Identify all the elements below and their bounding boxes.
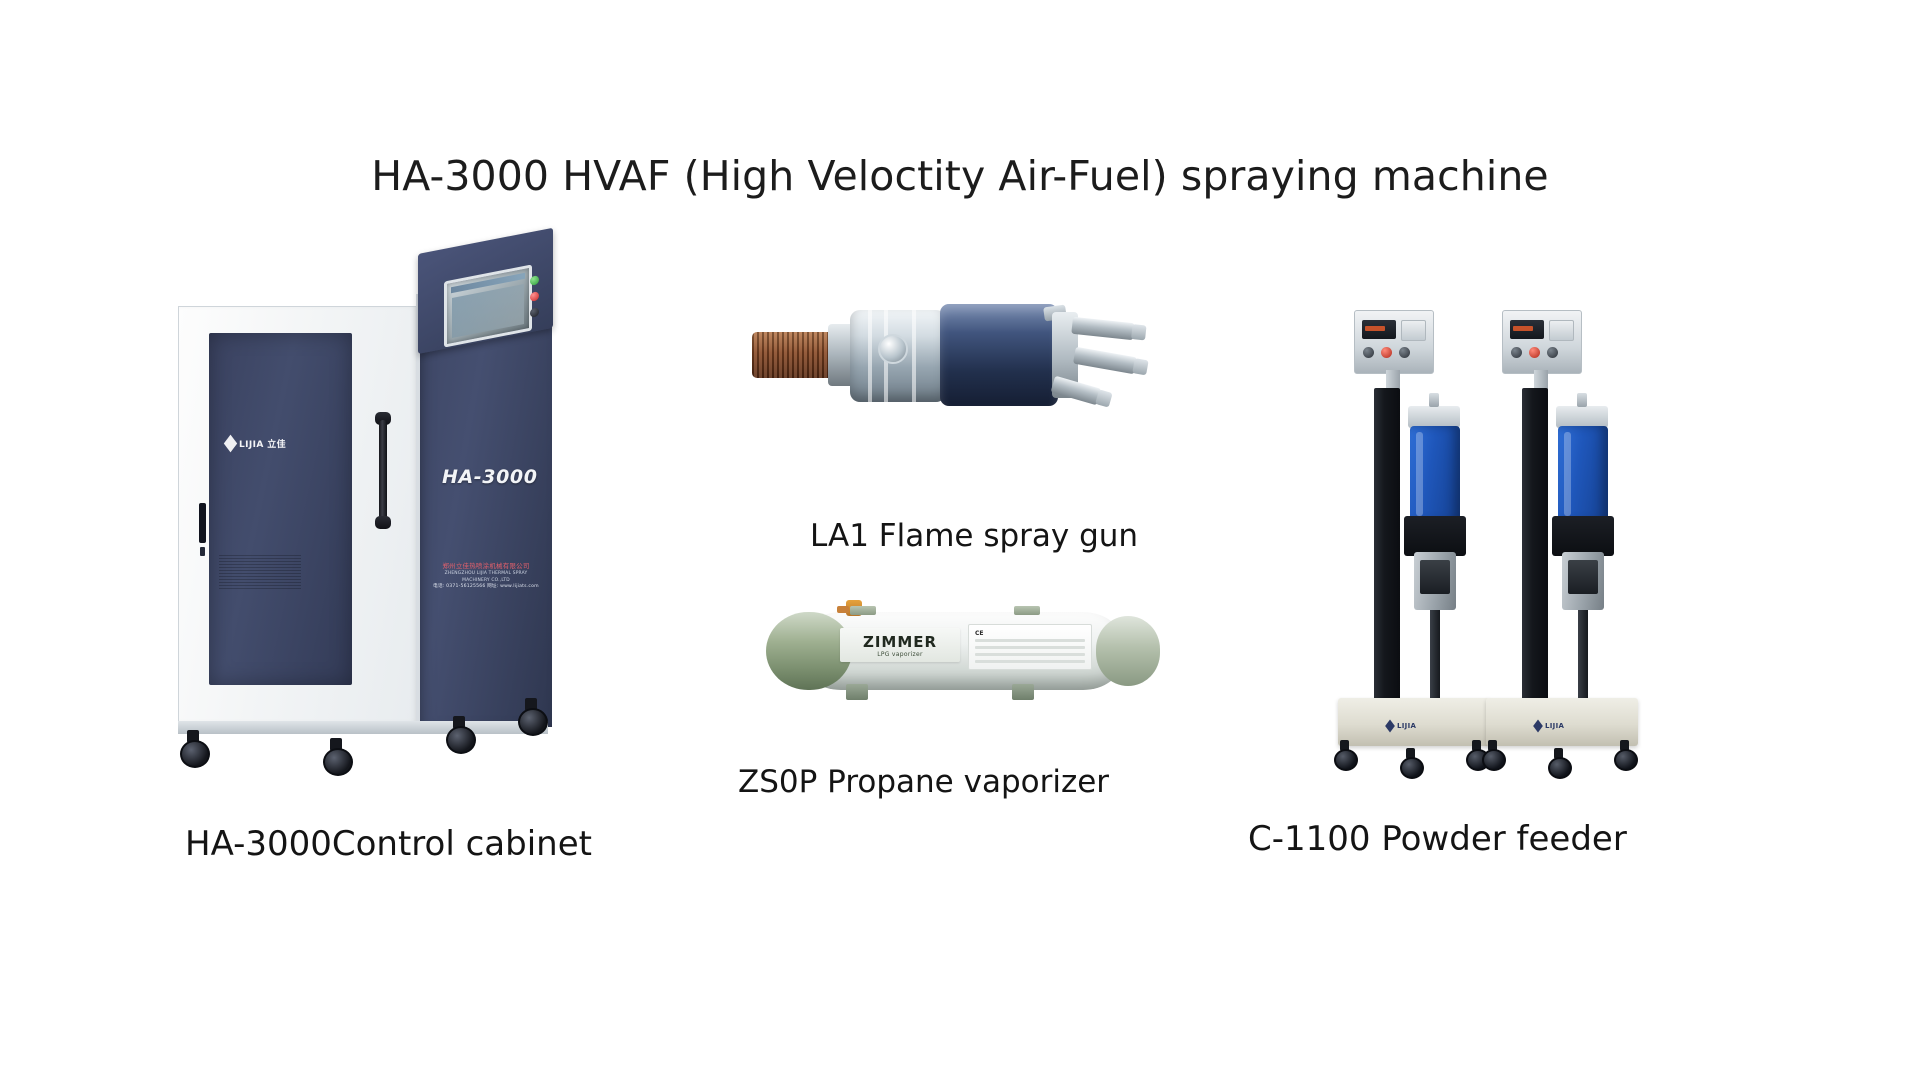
cabinet-company-label: 郑州立佳热喷涂机械有限公司 ZHENGZHOU LIJIA THERMAL SP… xyxy=(430,562,542,591)
caption-powder-feeder: C-1100 Powder feeder xyxy=(1248,819,1627,859)
caption-spray-gun: LA1 Flame spray gun xyxy=(810,518,1138,554)
vaporizer-brand-label: ZIMMER LPG vaporizer xyxy=(840,628,960,662)
cabinet-caster xyxy=(446,716,472,750)
cabinet-door-handle xyxy=(375,412,391,529)
cabinet-body: LIJIA 立佳 xyxy=(178,306,418,723)
feeder-hopper-collar xyxy=(1552,516,1614,556)
feeder-hopper-cap xyxy=(1408,406,1460,428)
feeder-power-button-icon xyxy=(1529,347,1540,358)
powder-feeder-unit: LIJIA xyxy=(1330,300,1500,780)
feeder-knob-icon xyxy=(1399,347,1410,358)
feeder-hopper-collar xyxy=(1404,516,1466,556)
feeder-secondary-display xyxy=(1401,320,1426,341)
feeder-hopper-cap xyxy=(1556,406,1608,428)
feeder-digital-display xyxy=(1362,320,1396,339)
spray-gun-illustration xyxy=(752,286,1172,446)
feeder-knob-icon xyxy=(1511,347,1522,358)
feeder-digital-display xyxy=(1510,320,1544,339)
vaporizer-foot xyxy=(1012,684,1034,700)
lijia-diamond-icon xyxy=(1385,720,1395,733)
lijia-diamond-icon xyxy=(224,435,237,453)
feeder-caster xyxy=(1334,740,1354,767)
company-label-en: ZHENGZHOU LIJIA THERMAL SPRAY MACHINERY … xyxy=(430,571,542,584)
cabinet-model-text: HA-3000 xyxy=(442,466,538,488)
vaporizer-right-endcap xyxy=(1096,616,1160,686)
powder-feeder-unit: LIJIA xyxy=(1478,300,1648,780)
cabinet-door xyxy=(209,333,352,685)
cabinet-vent-grille xyxy=(219,555,301,591)
cabinet-brand-logo: LIJIA 立佳 xyxy=(225,437,286,450)
feeder-control-head xyxy=(1502,310,1582,374)
vaporizer-brand-subtext: LPG vaporizer xyxy=(877,651,923,658)
feeder-caster xyxy=(1400,748,1420,775)
feeder-knob-icon xyxy=(1363,347,1374,358)
cabinet-lock-icon xyxy=(199,503,206,543)
cabinet-caster xyxy=(180,730,206,764)
feeder-brand-logo: LIJIA xyxy=(1386,722,1416,730)
company-label-contact: 电话: 0371-56125566 网址: www.lijiats.com xyxy=(430,584,542,591)
feeder-powder-hopper xyxy=(1410,426,1460,522)
feeder-dispenser-unit xyxy=(1562,552,1604,610)
gun-hose-fitting xyxy=(1071,317,1134,340)
feeder-power-button-icon xyxy=(1381,347,1392,358)
gun-navy-body xyxy=(940,304,1058,406)
caption-control-cabinet: HA-3000Control cabinet xyxy=(185,824,592,864)
handle-mount-bottom xyxy=(375,516,391,529)
feeder-brand-logo: LIJIA xyxy=(1534,722,1564,730)
control-cabinet-illustration: LIJIA 立佳 HA-3000 郑州立佳热喷涂机械有限公司 ZHENGZHOU… xyxy=(178,306,593,781)
gun-copper-barrel xyxy=(752,332,834,378)
propane-vaporizer-illustration: ZIMMER LPG vaporizer CE xyxy=(762,598,1162,718)
feeder-column-post xyxy=(1374,388,1400,718)
cabinet-base-plate xyxy=(178,721,548,734)
gun-hose-fitting xyxy=(1073,347,1137,375)
feeder-base-platform: LIJIA xyxy=(1486,698,1638,746)
screen-content xyxy=(452,284,524,338)
feeder-caster xyxy=(1482,740,1502,767)
feeder-control-knobs xyxy=(1511,347,1558,358)
lijia-diamond-icon xyxy=(1533,720,1543,733)
ce-mark-icon: CE xyxy=(975,630,984,637)
feeder-control-head xyxy=(1354,310,1434,374)
feeder-secondary-display xyxy=(1549,320,1574,341)
vaporizer-bracket xyxy=(850,606,876,615)
feeder-control-knobs xyxy=(1363,347,1410,358)
caption-propane-vaporizer: ZS0P Propane vaporizer xyxy=(738,764,1109,800)
company-label-cn: 郑州立佳热喷涂机械有限公司 xyxy=(430,562,542,571)
control-panel-buttons xyxy=(530,275,539,325)
feeder-caster xyxy=(1614,740,1634,767)
stop-button-red-icon xyxy=(530,291,539,302)
vaporizer-bracket xyxy=(1014,606,1040,615)
vaporizer-brand-text: ZIMMER xyxy=(863,633,937,651)
feeder-powder-hopper xyxy=(1558,426,1608,522)
feeder-brand-logo-text: LIJIA xyxy=(1397,722,1416,730)
feeder-base-platform: LIJIA xyxy=(1338,698,1490,746)
handle-bar xyxy=(379,420,387,521)
gun-adjustment-knob xyxy=(878,334,908,364)
start-button-green-icon xyxy=(530,275,539,286)
feeder-knob-icon xyxy=(1547,347,1558,358)
vaporizer-foot xyxy=(846,684,868,700)
cabinet-control-panel xyxy=(418,254,553,354)
cabinet-brand-logo-text: LIJIA 立佳 xyxy=(239,437,286,450)
feeder-column-post xyxy=(1522,388,1548,718)
cabinet-side-face: HA-3000 郑州立佳热喷涂机械有限公司 ZHENGZHOU LIJIA TH… xyxy=(416,294,552,727)
cabinet-caster xyxy=(323,738,349,772)
feeder-brand-logo-text: LIJIA xyxy=(1545,722,1564,730)
powder-feeder-illustration: LIJIA xyxy=(1330,300,1690,780)
feeder-dispenser-unit xyxy=(1414,552,1456,610)
feeder-caster xyxy=(1548,748,1568,775)
vaporizer-spec-plate: CE xyxy=(968,624,1092,670)
cabinet-caster xyxy=(518,698,544,732)
page-title: HA-3000 HVAF (High Veloctity Air-Fuel) s… xyxy=(0,152,1920,200)
selector-knob-icon xyxy=(530,307,539,318)
product-diagram-canvas: HA-3000 HVAF (High Veloctity Air-Fuel) s… xyxy=(0,0,1920,1080)
